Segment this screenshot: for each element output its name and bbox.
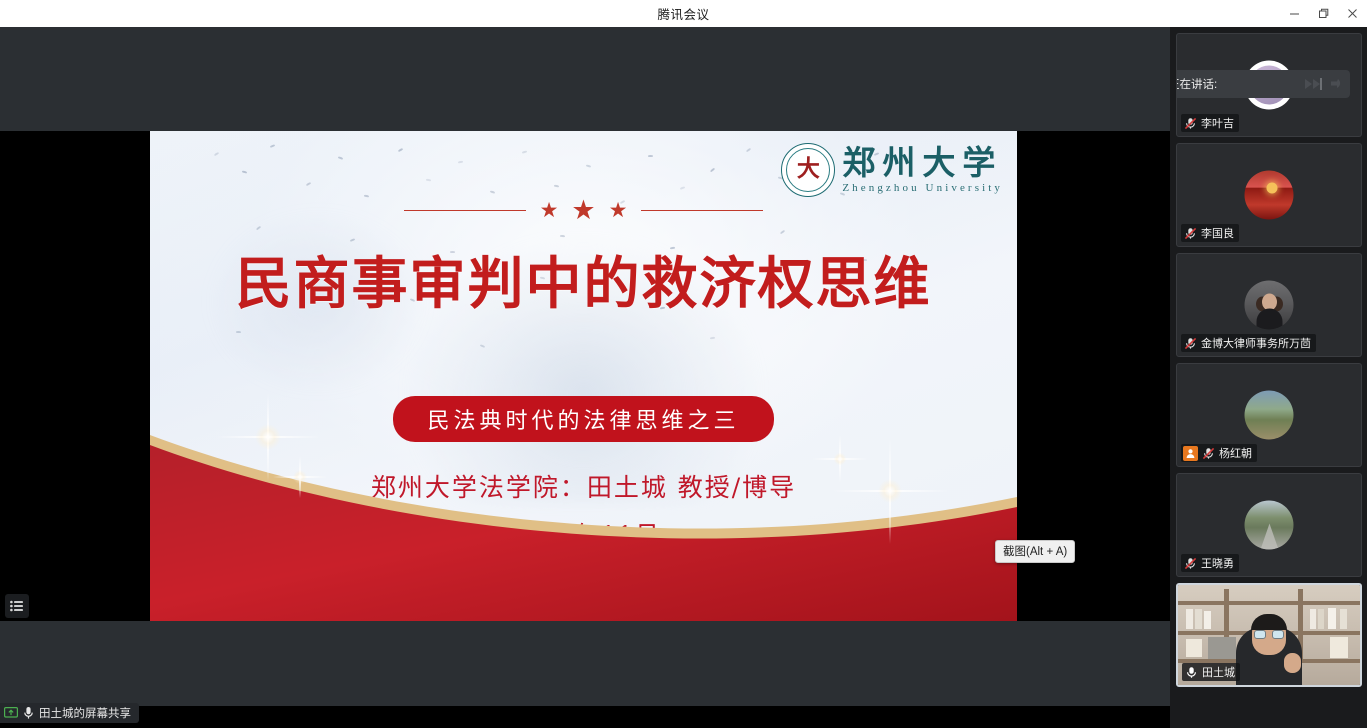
participant-namebar: 李叶吉 [1181,114,1239,132]
university-logo: 大 郑州大学 Zhengzhou University [781,143,1003,197]
participant-namebar: 王晓勇 [1181,554,1239,572]
star-icon: ★ [571,197,595,224]
microphone-muted-icon [1183,226,1198,241]
speaking-label: 正在讲话: [1176,76,1217,92]
participant-name: 杨红朝 [1219,445,1252,461]
stage-top-band [0,27,1170,131]
screen-share-icon [4,707,18,719]
host-badge-icon [1183,446,1198,461]
screen-share-label: 田土城的屏幕共享 [39,705,131,721]
screenshot-tooltip: 截图(Alt + A) [995,540,1075,563]
window-titlebar: 腾讯会议 [0,0,1367,27]
participant-name: 李叶吉 [1201,115,1234,131]
avatar [1245,501,1294,550]
star-icon: ★ [609,200,628,221]
participant-namebar: 田土城 [1182,663,1240,681]
window-title: 腾讯会议 [657,4,709,23]
glasses-icon [1254,630,1284,639]
slide-title: 民商事审判中的救济权思维 [150,239,1017,320]
participant-tile[interactable]: 李国良 [1176,143,1362,247]
microphone-muted-icon [1183,116,1198,131]
participant-namebar: 金博大律师事务所万茴 [1181,334,1316,352]
window-controls [1280,0,1367,27]
back-arrow-icon[interactable] [1327,76,1344,92]
minimize-button[interactable] [1280,0,1309,27]
university-name-cn: 郑州大学 [842,146,1002,181]
participant-list-icon[interactable] [5,594,29,618]
participant-tile[interactable]: 杨红朝 [1176,363,1362,467]
microphone-icon [1184,665,1199,680]
shared-screen-stage: 大 郑州大学 Zhengzhou University ★ ★ ★ 民商事审判中… [0,27,1170,706]
participant-name: 田土城 [1202,664,1235,680]
participant-name: 李国良 [1201,225,1234,241]
divider-rule-left [404,210,526,212]
microphone-muted-icon [1183,556,1198,571]
screen-share-status: 田土城的屏幕共享 [0,703,139,723]
presentation-slide: 大 郑州大学 Zhengzhou University ★ ★ ★ 民商事审判中… [150,131,1017,621]
avatar [1245,171,1294,220]
university-emblem-icon: 大 [781,143,835,197]
avatar [1245,281,1294,330]
participant-namebar: 李国良 [1181,224,1239,242]
microphone-muted-icon [1201,446,1216,461]
participant-rail: 李叶吉 正在讲话: [1170,27,1367,728]
speaking-bar-actions [1303,76,1344,92]
participant-tile-active[interactable]: 田土城 [1176,583,1362,687]
participant-name: 金博大律师事务所万茴 [1201,335,1311,351]
university-name-en: Zhengzhou University [842,182,1003,194]
collapse-chevrons-icon[interactable] [1303,76,1325,92]
participant-tile[interactable]: 金博大律师事务所万茴 [1176,253,1362,357]
divider-stars: ★ ★ ★ [540,197,628,224]
speaking-indicator-bar: 正在讲话: [1176,70,1350,98]
microphone-muted-icon [1183,336,1198,351]
emblem-mark: 大 [797,158,820,181]
webcam-hair [1251,614,1287,630]
participant-name: 王晓勇 [1201,555,1234,571]
avatar [1245,391,1294,440]
star-divider: ★ ★ ★ [150,197,1017,224]
slide-red-wave [150,401,1017,621]
participant-namebar: 杨红朝 [1181,444,1257,462]
microphone-icon [23,706,34,720]
divider-rule-right [641,210,763,212]
restore-button[interactable] [1309,0,1338,27]
star-icon: ★ [540,200,559,221]
close-button[interactable] [1338,0,1367,27]
participant-tile[interactable]: 李叶吉 正在讲话: [1176,33,1362,137]
webcam-hand [1284,653,1301,673]
participant-tile[interactable]: 王晓勇 [1176,473,1362,577]
stage-bottom-band [0,621,1170,706]
